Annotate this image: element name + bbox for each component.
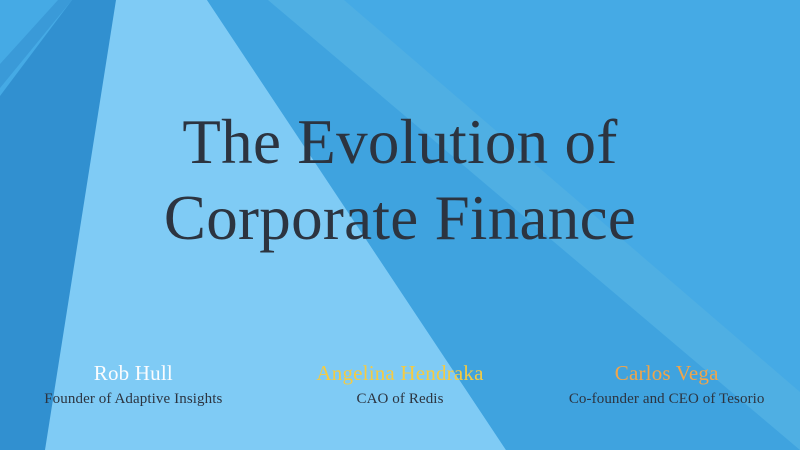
slide-title: The Evolution of Corporate Finance bbox=[0, 104, 800, 256]
title-line-2: Corporate Finance bbox=[0, 180, 800, 256]
speaker-item-rob-hull: Rob Hull Founder of Adaptive Insights bbox=[0, 360, 267, 409]
speaker-name: Rob Hull bbox=[4, 360, 263, 386]
speaker-list: Rob Hull Founder of Adaptive Insights An… bbox=[0, 360, 800, 409]
speaker-name: Angelina Hendraka bbox=[271, 360, 530, 386]
speaker-role: CAO of Redis bbox=[271, 390, 530, 409]
speaker-role: Founder of Adaptive Insights bbox=[4, 390, 263, 409]
title-line-1: The Evolution of bbox=[0, 104, 800, 180]
speaker-item-angelina-hendraka: Angelina Hendraka CAO of Redis bbox=[267, 360, 534, 409]
speaker-role: Co-founder and CEO of Tesorio bbox=[537, 390, 796, 409]
speaker-item-carlos-vega: Carlos Vega Co-founder and CEO of Tesori… bbox=[533, 360, 800, 409]
presentation-slide: The Evolution of Corporate Finance Rob H… bbox=[0, 0, 800, 450]
speaker-name: Carlos Vega bbox=[537, 360, 796, 386]
